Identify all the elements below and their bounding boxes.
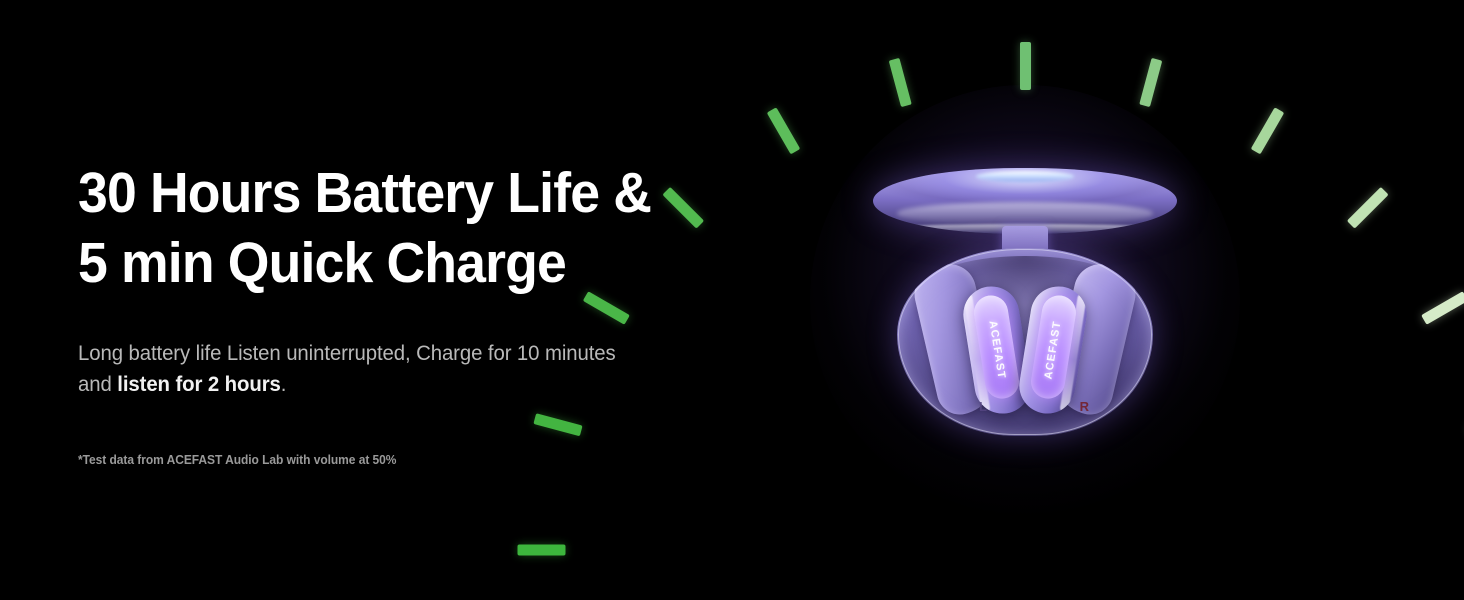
gauge-tick: [888, 58, 911, 107]
product-hero: ACEFAST ACEFAST L R: [760, 0, 1290, 600]
gauge-tick: [1139, 58, 1162, 107]
product-banner: 30 Hours Battery Life & 5 min Quick Char…: [0, 0, 1464, 600]
charging-case: ACEFAST ACEFAST L R: [875, 168, 1175, 438]
subtitle: Long battery life Listen uninterrupted, …: [78, 338, 631, 400]
gauge-tick: [1421, 291, 1464, 325]
subtitle-emphasis: listen for 2 hours: [117, 373, 281, 396]
gauge-tick: [1250, 107, 1284, 154]
case-lid: [873, 168, 1177, 234]
lid-led-indicator: [976, 171, 1073, 182]
gauge-tick: [517, 545, 565, 556]
case-base: ACEFAST ACEFAST L R: [897, 248, 1153, 436]
copy-block: 30 Hours Battery Life & 5 min Quick Char…: [78, 0, 738, 600]
lid-gloss-highlight: [897, 202, 1152, 224]
case-base-rim: [898, 249, 1152, 435]
footnote-disclaimer: *Test data from ACEFAST Audio Lab with v…: [78, 452, 577, 469]
page-title: 30 Hours Battery Life & 5 min Quick Char…: [78, 158, 698, 298]
subtitle-tail: .: [281, 373, 287, 396]
gauge-tick: [1020, 42, 1031, 90]
gauge-tick: [1346, 187, 1388, 229]
gauge-tick: [766, 107, 800, 154]
